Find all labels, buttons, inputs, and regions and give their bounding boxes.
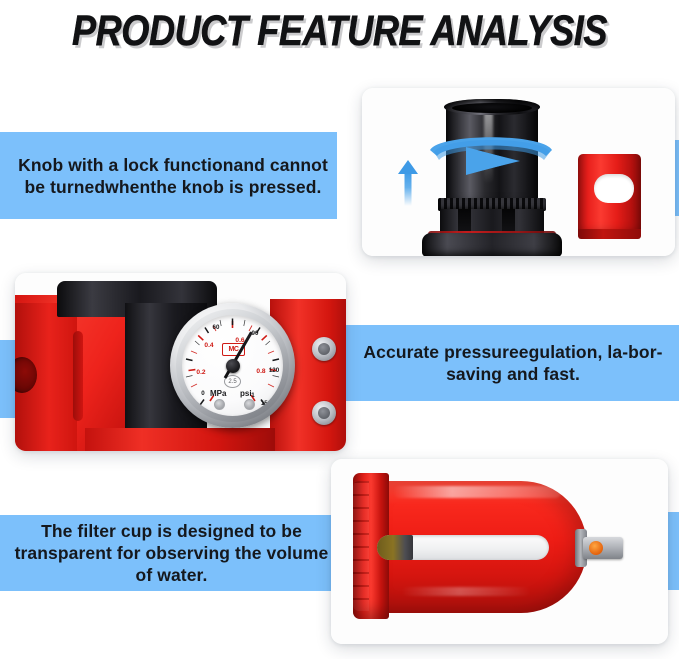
knob-photo xyxy=(362,88,675,256)
svg-text:120: 120 xyxy=(269,367,280,374)
filter-cup-top-highlight xyxy=(393,486,561,498)
gauge-face-screw-left xyxy=(214,399,225,410)
pressure-gauge: 0.2 0.4 0.6 0.8 0 60 90 120 150 1 xyxy=(170,303,295,428)
knob-base-flange xyxy=(422,233,562,256)
gauge-needle xyxy=(232,365,234,367)
caption-band-2-left-stub xyxy=(0,340,16,418)
feature-caption-pressure-regulation: Accurate pressureegulation, la-bor-savin… xyxy=(358,327,668,399)
gauge-face-screw-right xyxy=(244,399,255,410)
red-lock-bracket-hole xyxy=(594,174,634,203)
red-lock-bracket-lip xyxy=(578,229,641,239)
up-arrow-icon xyxy=(398,160,418,206)
filter-cup-photo xyxy=(331,459,668,644)
feature-caption-knob-lock: Knob with a lock functionand cannot be t… xyxy=(14,134,332,217)
feature-caption-transparent-filter-cup: The filter cup is designed to be transpa… xyxy=(14,517,329,589)
regulator-bolt-top xyxy=(312,337,336,361)
svg-text:60: 60 xyxy=(213,324,220,331)
filter-cup-bottom-highlight xyxy=(401,587,531,596)
filter-cup-collar-ribs xyxy=(353,481,369,611)
feature-image-card-gauge: 0.2 0.4 0.6 0.8 0 60 90 120 150 1 xyxy=(15,273,346,451)
feature-image-card-knob xyxy=(362,88,675,256)
page-title: PRODUCT FEATURE ANALYSIS xyxy=(72,9,607,54)
feature-image-card-filter-cup xyxy=(331,459,668,644)
regulator-bolt-bottom xyxy=(312,401,336,425)
regulator-base xyxy=(85,428,275,451)
gauge-face: 0.2 0.4 0.6 0.8 0 60 90 120 150 1 xyxy=(182,315,283,416)
svg-text:0.8: 0.8 xyxy=(256,368,265,375)
regulator-body-groove xyxy=(73,331,83,421)
gauge-unit-mpa: MPa xyxy=(210,389,226,398)
rotate-arrow-icon xyxy=(424,130,558,184)
svg-text:150: 150 xyxy=(261,400,272,407)
svg-text:0.4: 0.4 xyxy=(204,342,213,349)
filter-cup-drain-valve-knob xyxy=(589,541,603,555)
svg-text:0.2: 0.2 xyxy=(196,369,205,376)
gauge-needle-hub xyxy=(226,359,240,373)
gauge-unit-psi: psi xyxy=(240,389,252,398)
filter-cup-sight-window-shadow xyxy=(377,535,413,560)
svg-text:0: 0 xyxy=(201,390,205,397)
regulator-photo: 0.2 0.4 0.6 0.8 0 60 90 120 150 1 xyxy=(15,273,346,451)
svg-text:90: 90 xyxy=(252,330,259,337)
knob-top-opening xyxy=(452,103,532,113)
infographic-canvas: PRODUCT FEATURE ANALYSIS Knob with a loc… xyxy=(0,0,679,659)
page-title-container: PRODUCT FEATURE ANALYSIS xyxy=(0,0,679,62)
svg-text:1: 1 xyxy=(251,392,255,399)
